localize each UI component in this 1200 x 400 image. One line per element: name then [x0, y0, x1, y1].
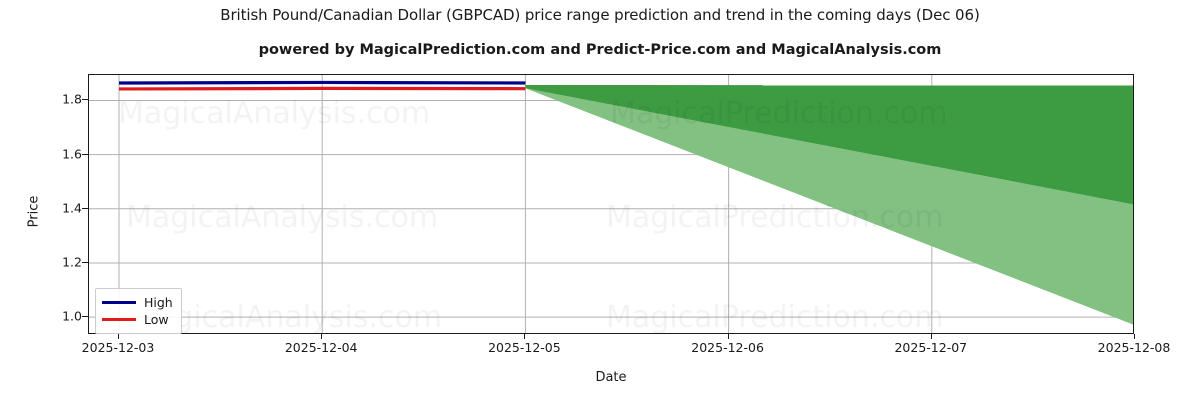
legend-item-high: High	[102, 294, 173, 311]
x-axis-tick-label: 2025-12-06	[658, 340, 798, 355]
x-axis-tick-mark	[321, 334, 322, 339]
plot-canvas	[89, 75, 1134, 334]
x-axis-tick-label: 2025-12-07	[861, 340, 1001, 355]
line-series-high	[119, 82, 525, 83]
chart-legend[interactable]: High Low	[95, 288, 182, 334]
chart-subtitle: powered by MagicalPrediction.com and Pre…	[0, 42, 1200, 58]
y-axis-label: Price	[27, 172, 42, 252]
legend-swatch-low	[102, 318, 136, 321]
legend-swatch-high	[102, 301, 136, 304]
x-axis-tick-mark	[1134, 334, 1135, 339]
x-axis-tick-mark	[728, 334, 729, 339]
x-axis-tick-mark	[931, 334, 932, 339]
y-axis-tick-label: 1.6	[12, 146, 82, 161]
price-prediction-chart: British Pound/Canadian Dollar (GBPCAD) p…	[0, 0, 1200, 400]
x-axis-tick-label: 2025-12-04	[251, 340, 391, 355]
legend-label-high: High	[144, 294, 173, 311]
x-axis-tick-label: 2025-12-08	[1064, 340, 1200, 355]
y-axis-tick-label: 1.4	[12, 200, 82, 215]
forecast-bands	[525, 85, 1134, 325]
x-axis-tick-label: 2025-12-05	[454, 340, 594, 355]
y-axis-tick-label: 1.8	[12, 92, 82, 107]
x-axis-tick-mark	[524, 334, 525, 339]
x-axis-tick-mark	[118, 334, 119, 339]
legend-label-low: Low	[144, 311, 169, 328]
legend-item-low: Low	[102, 311, 173, 328]
y-axis-tick-label: 1.0	[12, 309, 82, 324]
x-axis-tick-label: 2025-12-03	[48, 340, 188, 355]
line-series-low	[119, 88, 525, 89]
y-axis-tick-label: 1.2	[12, 254, 82, 269]
x-axis-label: Date	[88, 370, 1134, 385]
plot-area	[88, 74, 1134, 334]
chart-title: British Pound/Canadian Dollar (GBPCAD) p…	[0, 6, 1200, 24]
